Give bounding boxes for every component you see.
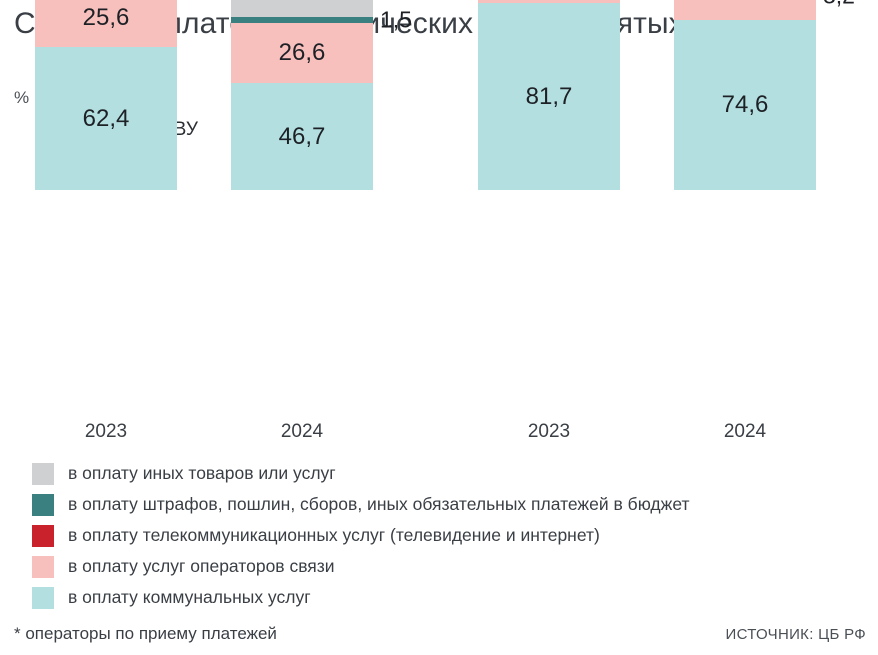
stacked-bar-by-count-2024: 25,21,526,646,7 [231, 0, 373, 190]
legend-item-label: в оплату телекоммуникационных услуг (тел… [68, 525, 600, 546]
stacked-bar-by-count-2023: 9325,662,4 [35, 0, 177, 190]
chart-page: Структура платежей физических лиц, приня… [0, 0, 878, 655]
bar-segment: 26,6 [231, 23, 373, 84]
x-axis-year-label: 2023 [35, 421, 177, 443]
bar-segment-value: 62,4 [35, 107, 177, 131]
legend-color-swatch [32, 556, 54, 578]
chart-plot-area: 9325,662,425,21,526,646,79,94,24,281,713… [0, 0, 878, 440]
bar-segment-value: 81,7 [478, 85, 620, 109]
x-axis-year-label: 2024 [231, 421, 373, 443]
bar-segment-value: 46,7 [231, 125, 373, 149]
bar-segment: 46,7 [231, 83, 373, 190]
x-axis-year-label: 2024 [674, 421, 816, 443]
bar-segment: 81,7 [478, 3, 620, 190]
bar-segment-value: 25,6 [35, 6, 177, 30]
legend-item-telecom-services: в оплату телекоммуникационных услуг (тел… [32, 520, 832, 551]
legend-color-swatch [32, 494, 54, 516]
legend-color-swatch [32, 463, 54, 485]
bar-segment: 8,7 [674, 0, 816, 20]
legend-item-communication-operators: в оплату услуг операторов связи [32, 551, 832, 582]
bar-segment: 25,2 [231, 0, 373, 17]
bar-segment-value: 3,2 [823, 0, 855, 8]
legend-item-other-goods-services: в оплату иных товаров или услуг [32, 458, 832, 489]
bar-segment-value: 1,5 [380, 8, 412, 31]
legend-color-swatch [32, 587, 54, 609]
stacked-bar-by-volume-2023: 9,94,24,281,7 [478, 0, 620, 190]
chart-legend: в оплату иных товаров или услугв оплату … [32, 458, 832, 613]
legend-item-utilities: в оплату коммунальных услуг [32, 582, 832, 613]
legend-item-label: в оплату услуг операторов связи [68, 556, 335, 577]
bar-segment: 74,6 [674, 20, 816, 190]
legend-item-label: в оплату коммунальных услуг [68, 587, 311, 608]
bar-segment: 25,6 [35, 0, 177, 47]
source-label: ИСТОЧНИК: ЦБ РФ [726, 626, 866, 643]
legend-item-label: в оплату иных товаров или услуг [68, 463, 336, 484]
legend-item-label: в оплату штрафов, пошлин, сборов, иных о… [68, 494, 690, 515]
legend-item-fines-duties-budget: в оплату штрафов, пошлин, сборов, иных о… [32, 489, 832, 520]
legend-color-swatch [32, 525, 54, 547]
stacked-bar-by-volume-2024: 13,53,28,774,6 [674, 0, 816, 190]
bar-segment-value: 26,6 [231, 41, 373, 65]
footnote: * операторы по приему платежей [14, 624, 277, 644]
x-axis-year-label: 2023 [478, 421, 620, 443]
bar-segment-value: 74,6 [674, 93, 816, 117]
bar-segment: 62,4 [35, 47, 177, 190]
